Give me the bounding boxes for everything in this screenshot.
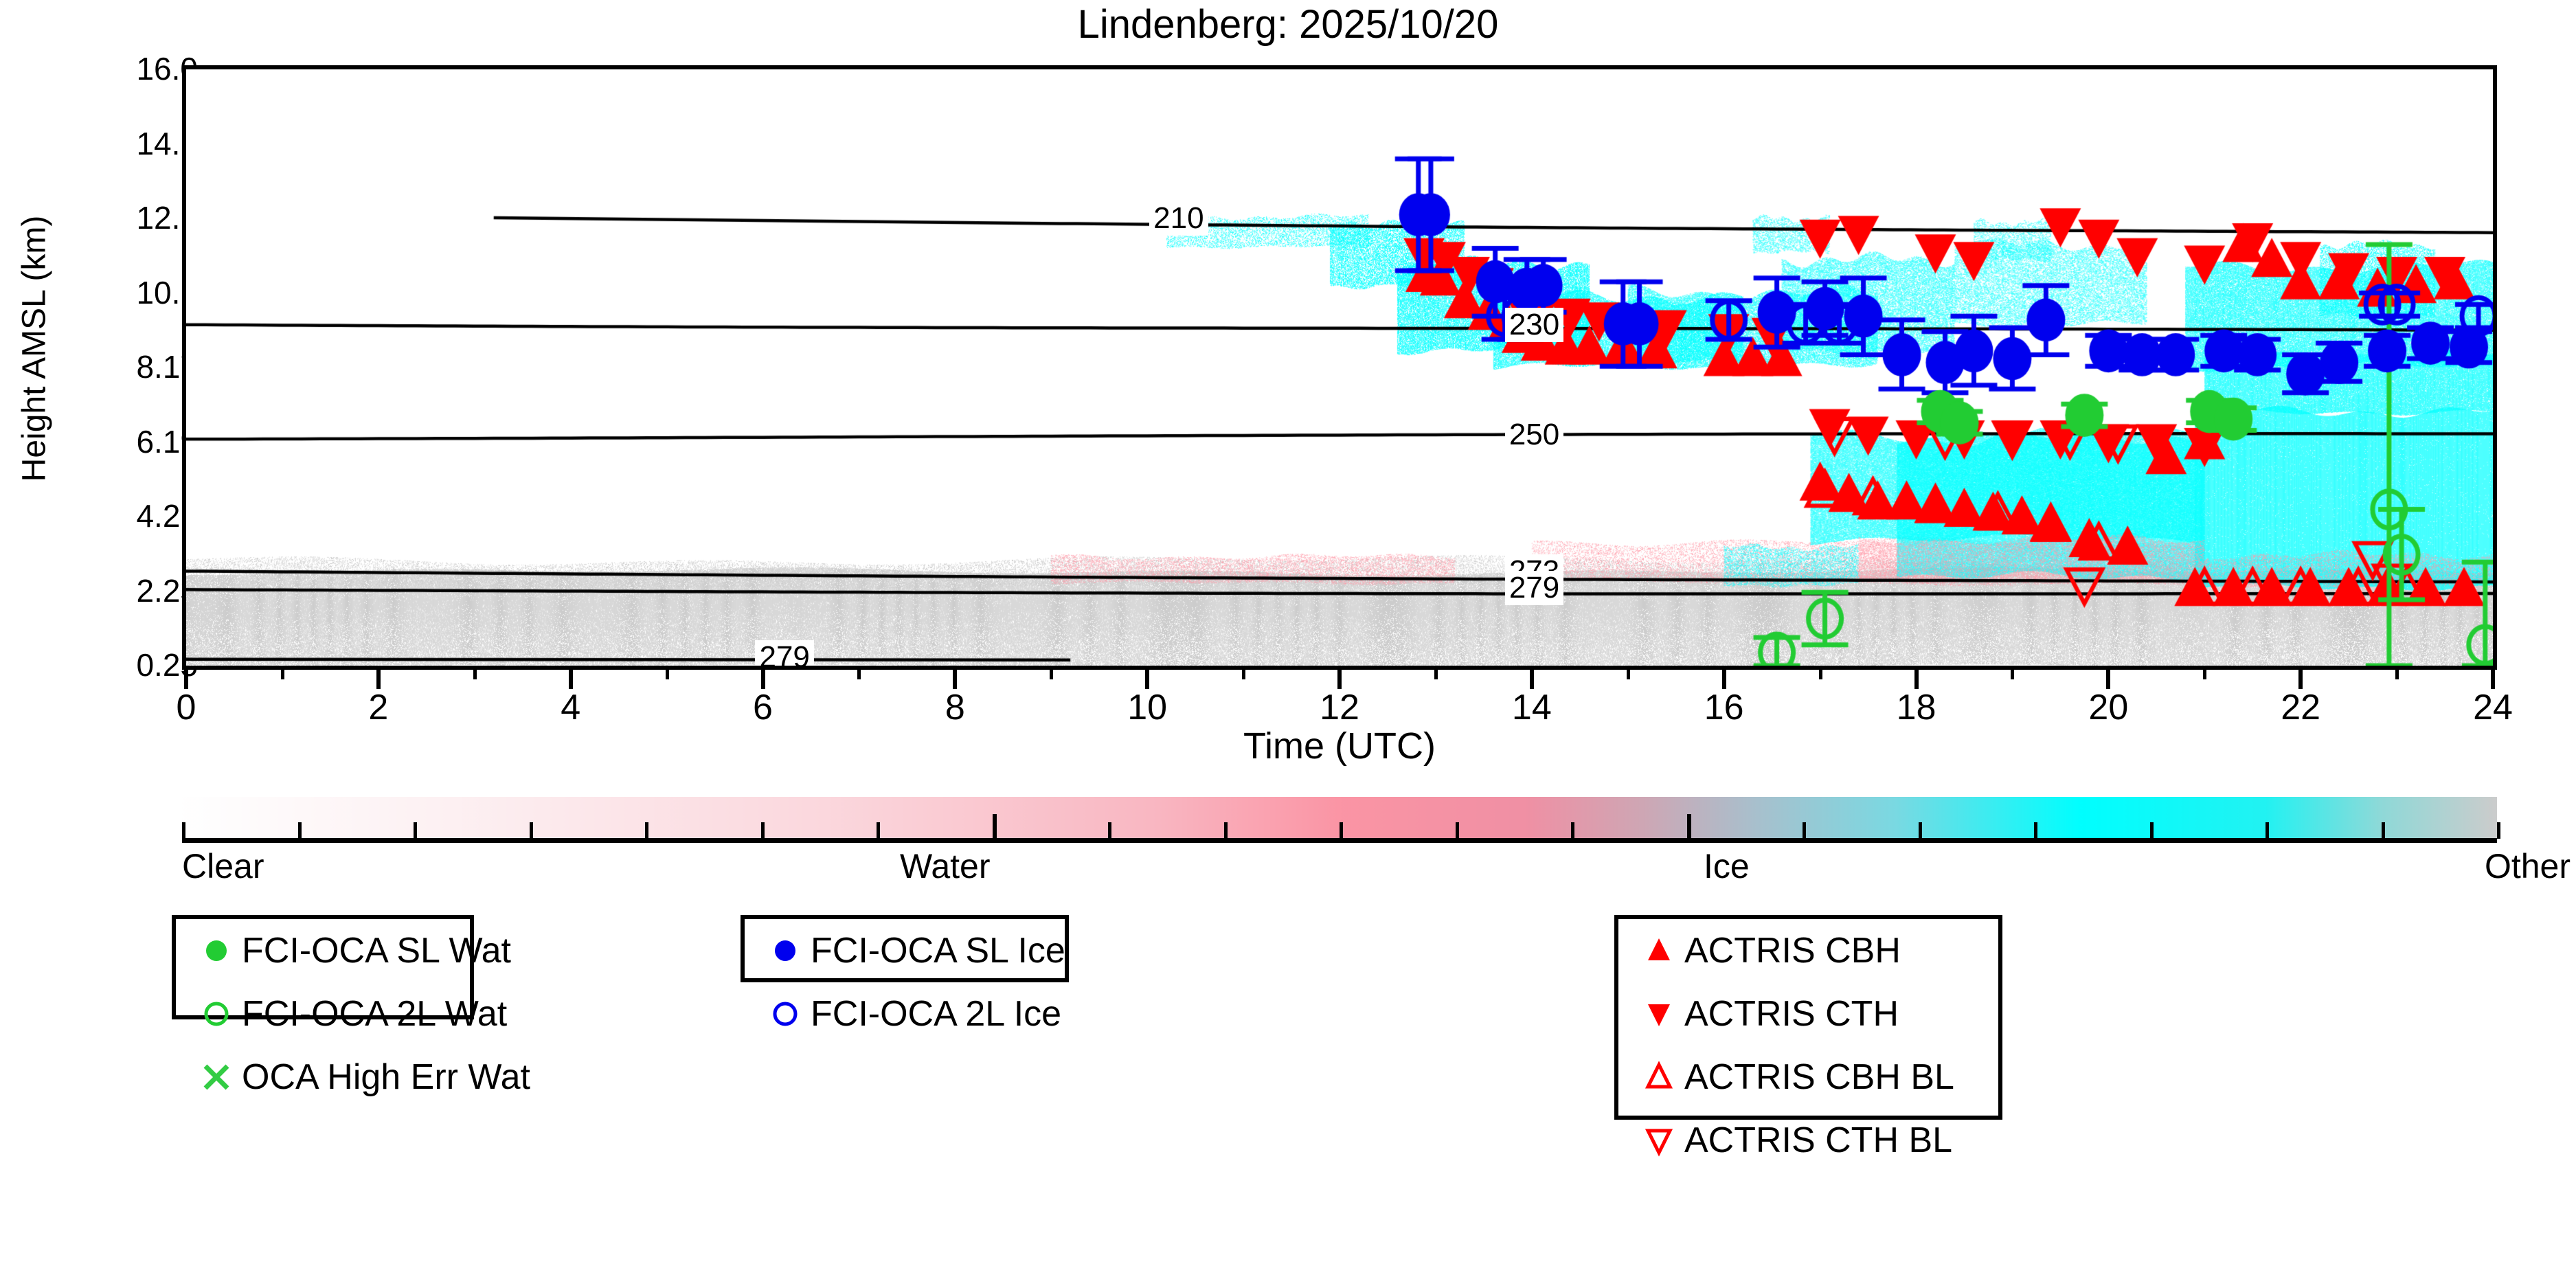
x-axis-label: Time (UTC)	[182, 725, 2497, 767]
colorbar-tick-10	[1340, 822, 1343, 839]
legend-item-actris-3[interactable]: ACTRIS CTH BL	[1618, 1109, 1998, 1172]
legend-item-label: ACTRIS CBH	[1684, 930, 1901, 971]
x-tick-label-1: 2	[337, 687, 420, 728]
y-tick-label-4: 8.17	[0, 351, 198, 383]
open-triangle-up-icon	[1634, 1058, 1684, 1096]
colorbar-axis-line	[182, 838, 2497, 843]
x-tick-label-4: 8	[914, 687, 996, 728]
contour-label-279: 279	[755, 640, 813, 670]
x-tick-label-0: 0	[145, 687, 227, 728]
legend-item-ice-0[interactable]: FCI-OCA SL Ice	[745, 919, 1065, 982]
y-tick-label-6: 4.21	[0, 500, 198, 532]
x-tick-label-7: 14	[1491, 687, 1573, 728]
legend-item-ice-1[interactable]: FCI-OCA 2L Ice	[745, 982, 1065, 1046]
colorbar-tick-16	[2034, 822, 2037, 839]
colorbar-tick-20	[2497, 822, 2500, 839]
legend-item-actris-1[interactable]: ACTRIS CTH	[1618, 982, 1998, 1046]
colorbar-tick-5	[761, 822, 765, 839]
legend-item-label: OCA High Err Wat	[242, 1057, 530, 1098]
y-tick-label-2: 12.1	[0, 202, 198, 234]
x-tick-label-12: 24	[2452, 687, 2534, 728]
legend-ice[interactable]: FCI-OCA SL IceFCI-OCA 2L Ice	[741, 915, 1069, 982]
y-tick-label-7: 2.23	[0, 575, 198, 607]
page-title: Lindenberg: 2025/10/20	[0, 1, 2576, 47]
data-canvas	[186, 69, 2493, 666]
x-tick-label-8: 16	[1683, 687, 1765, 728]
y-tick-label-1: 14.1	[0, 128, 198, 159]
plot-area[interactable]: 210230250273279279	[182, 65, 2497, 670]
chart-root: Lindenberg: 2025/10/20 Height AMSL (km) …	[0, 0, 2576, 1288]
colorbar-tick-3	[530, 822, 533, 839]
legend-item-label: ACTRIS CTH	[1684, 993, 1899, 1035]
colorbar-tick-17	[2150, 822, 2154, 839]
y-tick-label-3: 10.1	[0, 277, 198, 308]
legend-item-label: FCI-OCA 2L Ice	[811, 993, 1061, 1035]
legend-water[interactable]: FCI-OCA SL WatFCI-OCA 2L WatOCA High Err…	[172, 915, 474, 1019]
x-tick-label-11: 22	[2259, 687, 2342, 728]
colorbar-label-other: Other	[2485, 846, 2571, 886]
colorbar-tick-2	[414, 822, 417, 839]
legend-item-water-0[interactable]: FCI-OCA SL Wat	[176, 919, 470, 982]
colorbar-tick-1	[298, 822, 302, 839]
legend-item-label: ACTRIS CBH BL	[1684, 1057, 1954, 1098]
contour-label-210: 210	[1149, 201, 1208, 236]
legend-item-actris-0[interactable]: ACTRIS CBH	[1618, 919, 1998, 982]
colorbar-tick-7	[993, 814, 997, 839]
colorbar-tick-11	[1456, 822, 1459, 839]
legend-item-label: FCI-OCA SL Ice	[811, 930, 1065, 971]
filled-triangle-up-icon	[1634, 931, 1684, 970]
colorbar-tick-19	[2382, 822, 2385, 839]
colorbar-label-clear: Clear	[182, 846, 264, 886]
cross-icon	[191, 1058, 242, 1096]
contour-label-279: 279	[1505, 571, 1563, 605]
colorbar-tick-6	[877, 822, 880, 839]
x-tick-label-3: 6	[722, 687, 804, 728]
colorbar-tick-9	[1224, 822, 1228, 839]
y-tick-label-5: 6.19	[0, 426, 198, 457]
colorbar-tick-18	[2266, 822, 2269, 839]
contour-label-250: 250	[1505, 418, 1563, 452]
legend-item-water-2[interactable]: OCA High Err Wat	[176, 1046, 470, 1109]
colorbar-tick-0	[182, 822, 185, 839]
open-circle-icon	[760, 995, 811, 1033]
x-tick-label-6: 12	[1298, 687, 1381, 728]
colorbar-tick-14	[1803, 822, 1806, 839]
colorbar-tick-13	[1687, 814, 1691, 839]
legend-actris[interactable]: ACTRIS CBHACTRIS CTHACTRIS CBH BLACTRIS …	[1614, 915, 2002, 1120]
colorbar-tick-8	[1108, 822, 1111, 839]
colorbar-tick-4	[645, 822, 648, 839]
open-triangle-down-icon	[1634, 1121, 1684, 1160]
legend-item-actris-2[interactable]: ACTRIS CBH BL	[1618, 1046, 1998, 1109]
colorbar-tick-12	[1571, 822, 1574, 839]
colorbar-tick-15	[1919, 822, 1922, 839]
legend-item-label: FCI-OCA SL Wat	[242, 930, 511, 971]
x-tick-label-5: 10	[1106, 687, 1188, 728]
legend-item-label: ACTRIS CTH BL	[1684, 1120, 1952, 1161]
x-tick-label-9: 18	[1875, 687, 1958, 728]
y-tick-label-8: 0.25	[0, 649, 198, 681]
legend-item-label: FCI-OCA 2L Wat	[242, 993, 507, 1035]
legend-item-water-1[interactable]: FCI-OCA 2L Wat	[176, 982, 470, 1046]
x-tick-label-2: 4	[530, 687, 612, 728]
colorbar-label-water: Water	[900, 846, 991, 886]
colorbar-label-ice: Ice	[1704, 846, 1750, 886]
filled-circle-icon	[760, 931, 811, 970]
filled-circle-icon	[191, 931, 242, 970]
y-tick-label-0: 16.0	[0, 53, 198, 84]
x-tick-label-10: 20	[2067, 687, 2149, 728]
open-circle-icon	[191, 995, 242, 1033]
filled-triangle-down-icon	[1634, 995, 1684, 1033]
contour-label-230: 230	[1505, 308, 1563, 342]
